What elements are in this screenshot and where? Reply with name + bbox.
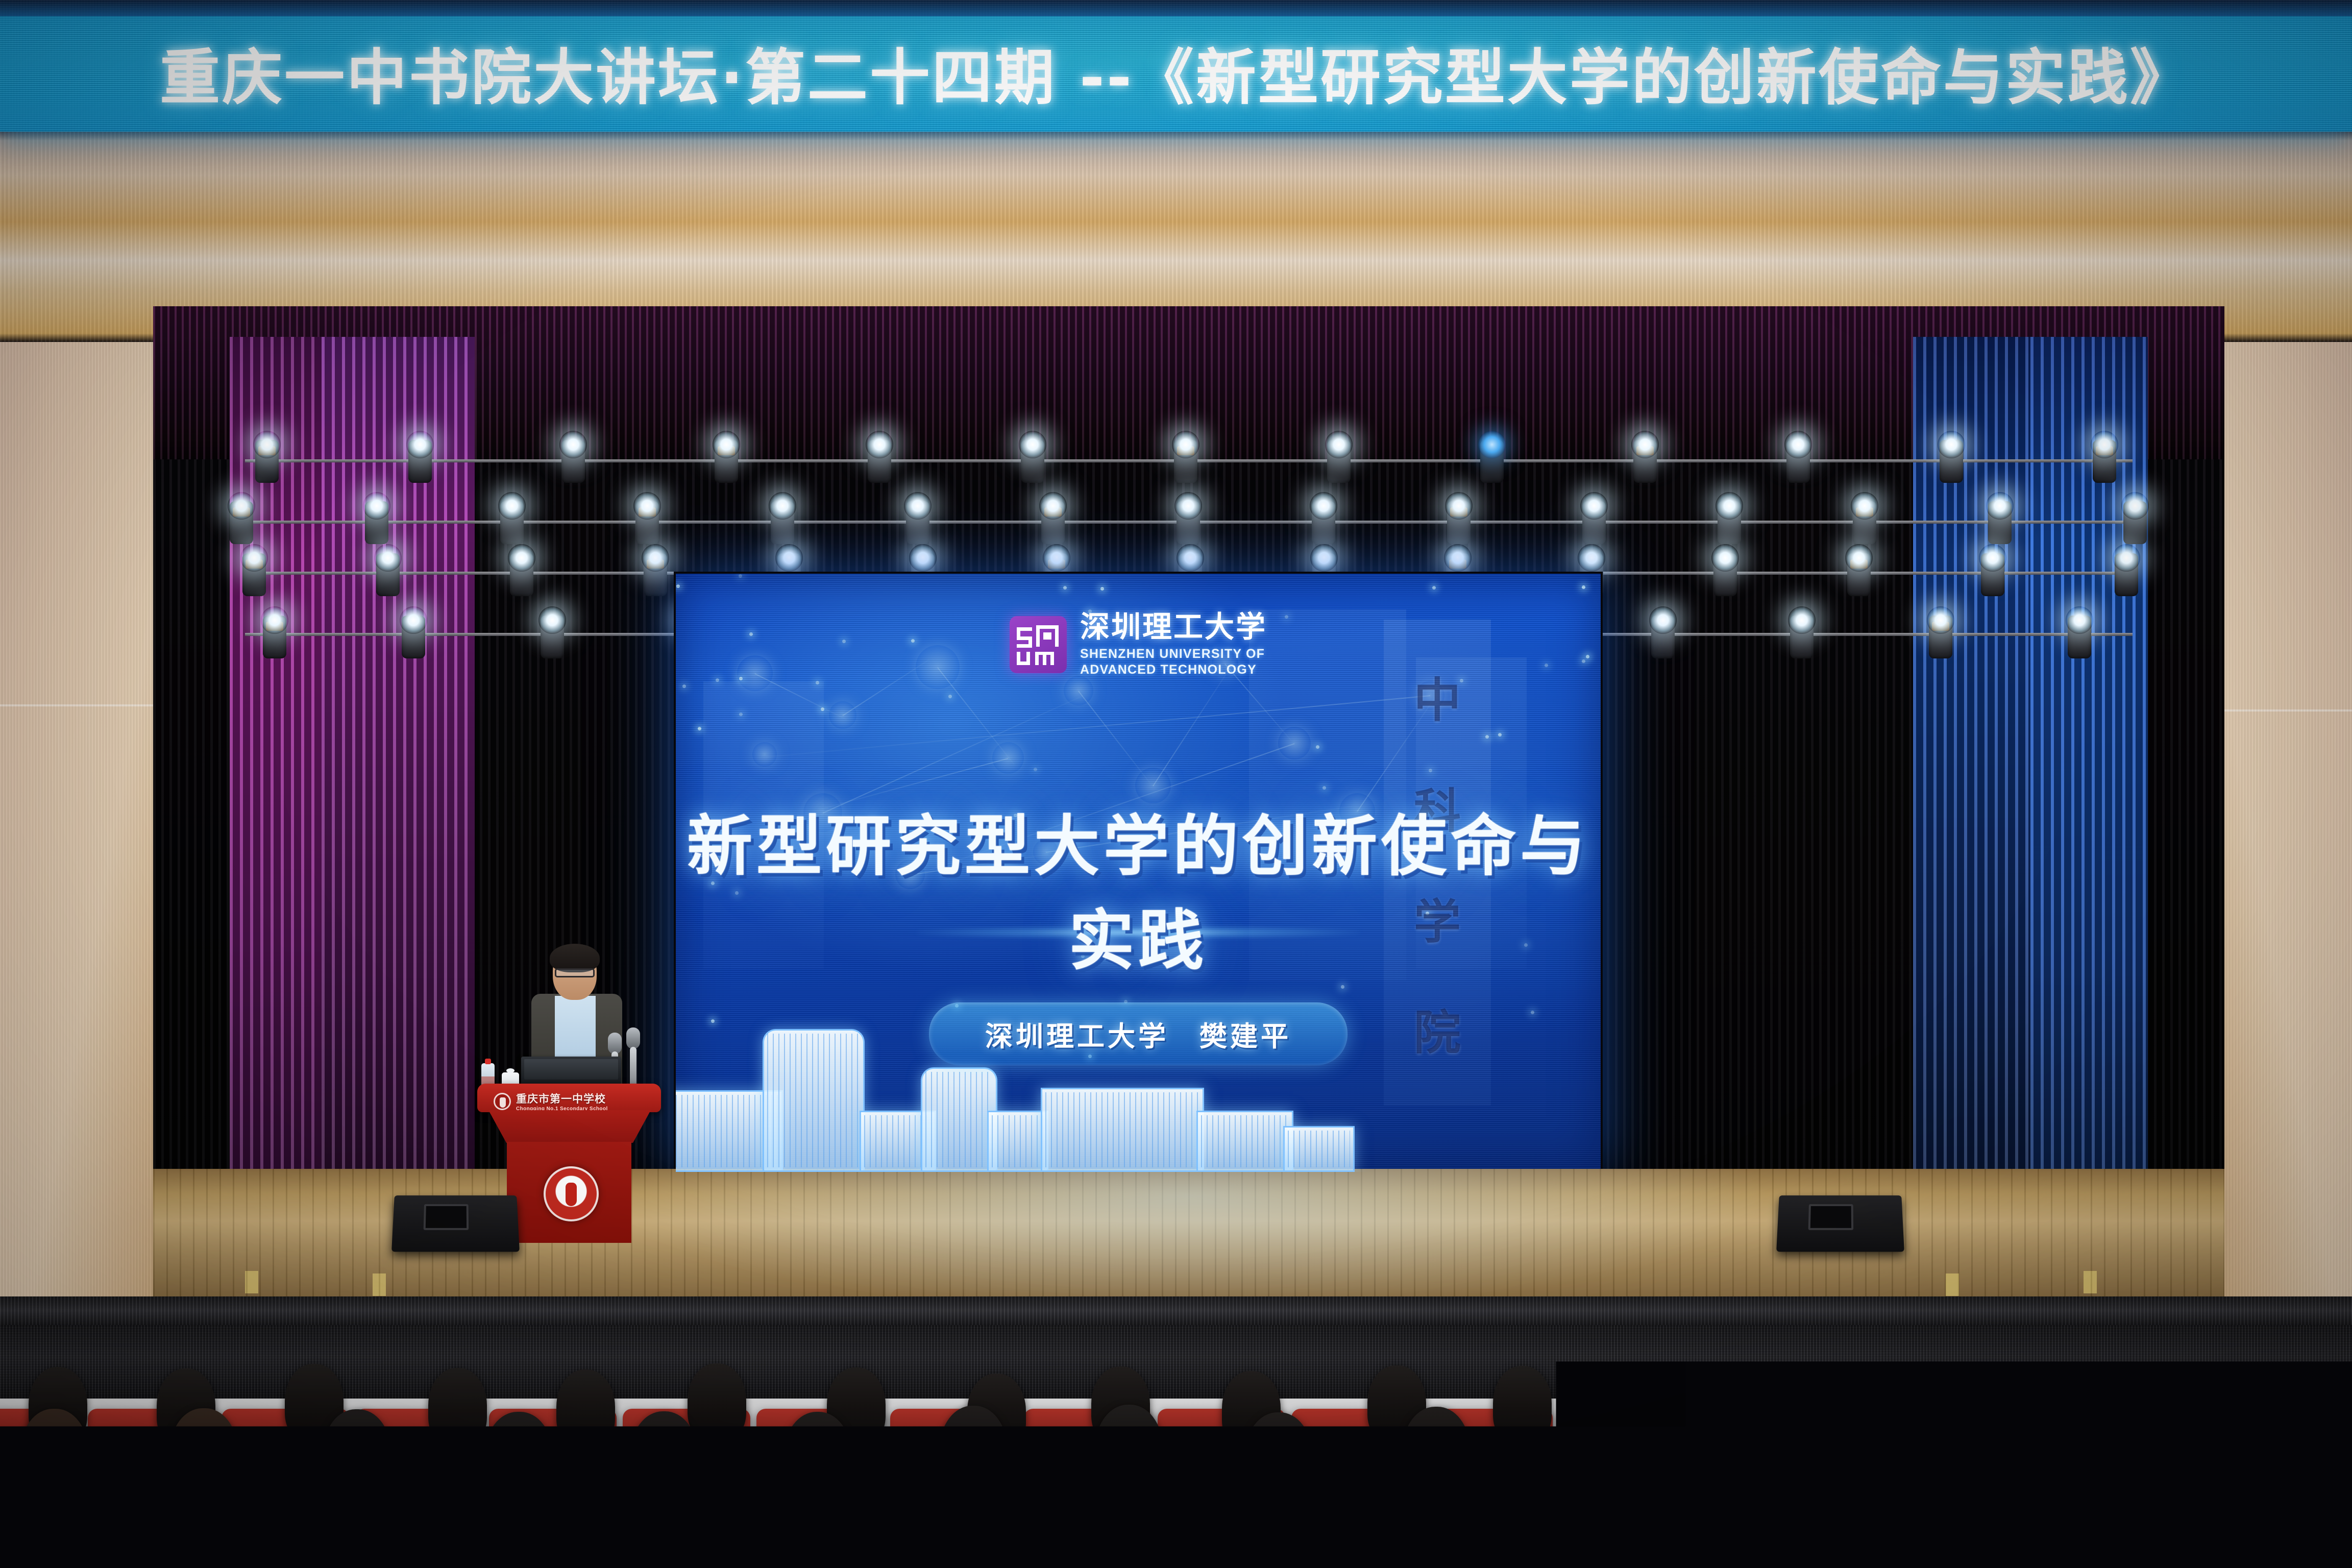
audience-navy-coat-2 (1950, 1465, 2047, 1557)
stage-light-lamp (1631, 431, 1659, 458)
stage-light-lamp (1578, 544, 1605, 572)
speaker-name-pill: 深圳理工大学 樊建平 (929, 1002, 1347, 1065)
speaker-shirt (555, 996, 596, 1057)
audience-seating: 080204040606080802 (0, 1342, 2352, 1568)
stage-light-lamp (1788, 606, 1816, 634)
audience-member-head (2133, 1449, 2210, 1551)
audience-member-head (1761, 1370, 1820, 1448)
stage-light-lamp (1851, 492, 1878, 520)
stage-light-lamp (633, 492, 661, 520)
stage-light-lamp (374, 544, 402, 572)
stage-light-lamp (1174, 492, 1202, 520)
light-spark (682, 684, 686, 688)
stage-light-lamp (713, 431, 740, 458)
audience-member-head (1860, 1407, 1928, 1496)
stage-light-lamp (909, 544, 937, 572)
stage-light-lamp (1039, 492, 1067, 520)
podium-school-name: 重庆市第一中学校 Chongqing No.1 Secondary School (494, 1091, 647, 1112)
stage-light-lamp (1478, 431, 1506, 458)
light-spark (1545, 664, 1548, 667)
light-spark (749, 632, 753, 636)
light-spark (821, 707, 824, 711)
stage-light-lamp (2066, 606, 2093, 634)
stage-light-lamp (1172, 431, 1199, 458)
light-spark (911, 639, 915, 643)
audience-member-head (688, 1363, 746, 1441)
network-node (752, 742, 777, 767)
stage-light-lamp (1938, 431, 1965, 458)
university-name-en-line2: ADVANCED TECHNOLOGY (1080, 662, 1267, 678)
stage-light-lamp (363, 492, 390, 520)
slide-main-title: 新型研究型大学的创新使命与实践 (676, 793, 1601, 982)
stage-light-lamp (1177, 544, 1204, 572)
light-spark (676, 584, 680, 588)
stage-monitor-left (391, 1195, 520, 1252)
stage-light-lamp (1043, 544, 1070, 572)
audience-member-head (553, 1451, 631, 1553)
light-spark (1100, 587, 1104, 591)
led-presentation-screen: 中 科 学 院 (674, 572, 1603, 1174)
stage-light-lamp (400, 606, 427, 634)
university-name-cn: 深圳理工大学 (1080, 612, 1267, 642)
network-link (1153, 668, 1230, 786)
light-spark (698, 727, 701, 730)
stage-light-lamp (2091, 431, 2118, 458)
network-link (1078, 691, 1150, 783)
audience-member-head (1773, 1452, 1851, 1554)
stage-light-lamp (228, 492, 255, 520)
stage-light-lamp (261, 606, 288, 634)
stage-light-lamp (1845, 544, 1873, 572)
stage-light-lamp (240, 544, 268, 572)
light-spark (1432, 586, 1436, 590)
university-name-en-line1: SHENZHEN UNIVERSITY OF (1080, 646, 1267, 662)
stage-light-lamp (866, 431, 893, 458)
stage-light-lamp (1445, 492, 1473, 520)
stage-light-lamp (769, 492, 796, 520)
microphone-2 (626, 1027, 640, 1049)
light-spark (1341, 985, 1344, 989)
light-spark (1586, 655, 1589, 658)
stage-light-lamp (406, 431, 434, 458)
stage-light-lamp (498, 492, 526, 520)
audience-member-head (1493, 1366, 1552, 1443)
network-link (842, 659, 929, 716)
stage-light-lamp (2121, 492, 2149, 520)
stage-light-lamp (508, 544, 535, 572)
stage-light-lamp (1649, 606, 1677, 634)
light-spark (739, 574, 742, 578)
stage-monitor-right (1776, 1195, 1904, 1252)
light-spark (1582, 659, 1585, 663)
stage-light-lamp (642, 544, 669, 572)
stage-light-lamp (2113, 544, 2140, 572)
audience-member-head (556, 1369, 615, 1447)
stage-light-lamp (1711, 544, 1739, 572)
stage-light-lamp (1927, 606, 1954, 634)
laptop (521, 1057, 621, 1086)
stage-light-lamp (775, 544, 803, 572)
audience-member-head (428, 1368, 487, 1445)
stage-light-lamp (1979, 544, 2006, 572)
audience-member-head (485, 1412, 552, 1501)
light-spark (1582, 585, 1585, 589)
stage-light-lamp (1019, 431, 1046, 458)
school-emblem (544, 1166, 599, 1221)
light-spark (842, 640, 846, 643)
light-spark (948, 695, 952, 698)
stage-light-lamp (1325, 431, 1353, 458)
glasses-icon (555, 968, 595, 977)
audience-member-head (724, 1450, 801, 1552)
network-link (937, 667, 1015, 765)
banner-title-text: 重庆一中书院大讲坛·第二十四期 --《新型研究型大学的创新使命与实践》 (0, 0, 2352, 132)
podium-mid (488, 1110, 651, 1143)
stage-light-lamp (1716, 492, 1743, 520)
lecture-hall-photo: 重庆一中书院大讲坛·第二十四期 --《新型研究型大学的创新使命与实践》 中 科 … (0, 0, 2352, 1568)
stage-light-lamp (538, 606, 566, 634)
university-name-en: SHENZHEN UNIVERSITY OF ADVANCED TECHNOLO… (1080, 646, 1267, 677)
stage-light-lamp (1310, 492, 1337, 520)
audience-member-head (1698, 1410, 1766, 1500)
stage-lip (0, 1296, 2352, 1328)
suat-logo-mark (1010, 616, 1067, 673)
university-logo-text: 深圳理工大学 SHENZHEN UNIVERSITY OF ADVANCED T… (1080, 612, 1267, 677)
calligraphy-char-1: 中 (1414, 663, 1461, 730)
audience-member-head (630, 1411, 698, 1501)
university-logo: 深圳理工大学 SHENZHEN UNIVERSITY OF ADVANCED T… (1010, 612, 1267, 677)
stage-light-lamp (559, 431, 587, 458)
stage-light-lamp (1310, 544, 1338, 572)
school-badge-icon (494, 1093, 511, 1110)
light-spark (739, 713, 743, 716)
led-banner: 重庆一中书院大讲坛·第二十四期 --《新型研究型大学的创新使命与实践》 (0, 0, 2352, 132)
audience-member-head (1624, 1374, 1682, 1452)
podium-name-cn: 重庆市第一中学校 (516, 1091, 608, 1106)
stage-light-lamp (1580, 492, 1608, 520)
light-spark (1322, 786, 1326, 790)
microphone-1 (608, 1033, 622, 1054)
stage-light-lamp (1784, 431, 1812, 458)
stage-light-lamp (1444, 544, 1472, 572)
light-spark (1063, 586, 1067, 590)
stage-light-lamp (253, 431, 281, 458)
light-spark (1034, 768, 1037, 771)
stage-light-lamp (904, 492, 932, 520)
stage-light-lamp (1986, 492, 2014, 520)
